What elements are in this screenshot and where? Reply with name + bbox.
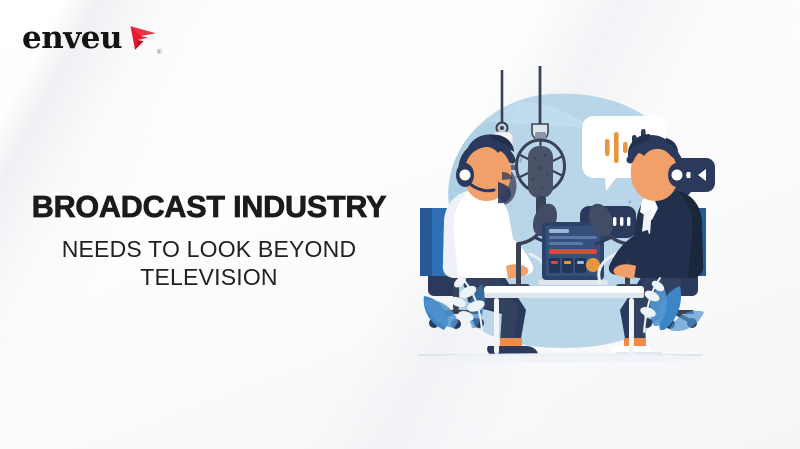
headline-secondary-line2: TELEVISION: [30, 263, 388, 291]
headline-secondary: NEEDS TO LOOK BEYOND TELEVISION: [30, 235, 388, 291]
red-arrow-logomark-icon: [128, 23, 158, 53]
floor-line: [418, 353, 703, 363]
headline-primary: BROADCAST INDUSTRY: [30, 190, 388, 224]
podcast-studio-illustration: [398, 62, 728, 392]
headline-block: BROADCAST INDUSTRY NEEDS TO LOOK BEYOND …: [30, 190, 388, 291]
brand-logo[interactable]: enveu ®: [22, 17, 161, 59]
brand-name: enveu: [22, 23, 122, 54]
marketing-banner: enveu ® BROADCAST INDUSTRY NEEDS TO LOOK…: [0, 0, 800, 449]
headline-secondary-line1: NEEDS TO LOOK BEYOND: [30, 235, 388, 263]
